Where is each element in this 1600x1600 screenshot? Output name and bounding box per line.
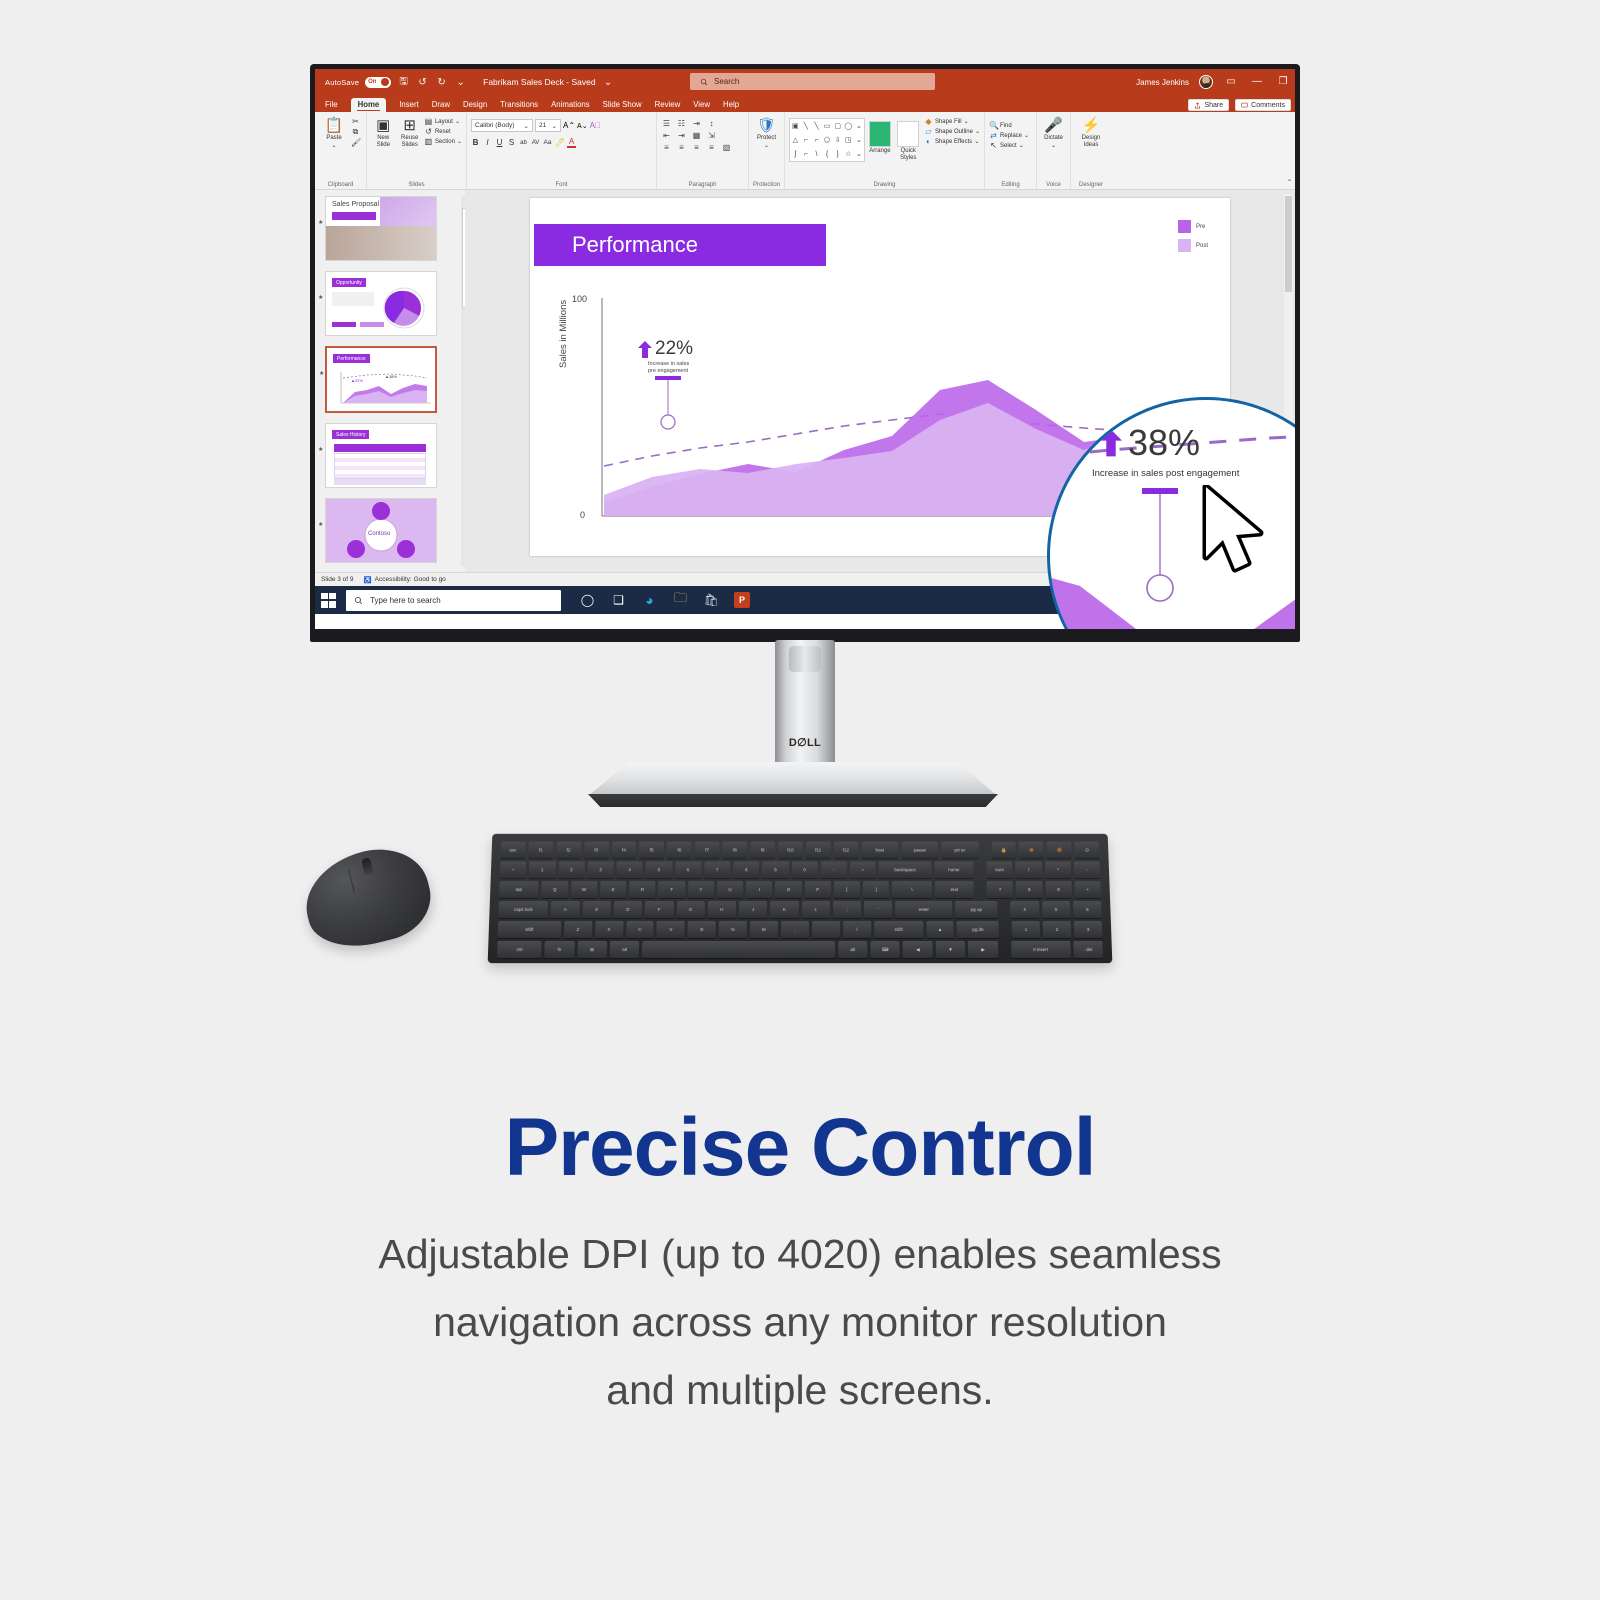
annotation-38-caption: Increase in sales post engagement [1092, 468, 1239, 479]
list-item[interactable]: ★ Contoso [325, 498, 437, 563]
key: 8 [1016, 881, 1043, 898]
font-row-bottom: B I U S ab AV Aa 🖊 A [471, 132, 652, 148]
key: ctrl [497, 941, 542, 958]
list-item[interactable]: ★ Opportunity [325, 271, 437, 336]
microphone-icon: 🎤 [1044, 117, 1063, 134]
key: - [821, 861, 847, 878]
key: fn [544, 941, 574, 958]
list-item[interactable]: ★ Sales History [325, 423, 437, 488]
key: 3 [587, 861, 614, 878]
new-slide-label: New Slide [371, 135, 395, 149]
shape-pentagon-icon: ⬠ [824, 136, 830, 144]
avatar[interactable] [1199, 75, 1213, 89]
shape-rounded-icon: ▢ [834, 122, 841, 130]
new-slide-icon: ▣ [376, 117, 390, 134]
document-title[interactable]: Fabrikam Sales Deck - Saved [483, 77, 595, 87]
key: f10 [778, 842, 803, 859]
key: L [802, 901, 830, 918]
shape-effects-button[interactable]: ◐Shape Effects⌄ [924, 137, 980, 146]
reset-label: Reset [435, 129, 451, 135]
tab-help[interactable]: Help [723, 100, 739, 112]
reuse-slides-button[interactable]: ⊞ Reuse Slides [397, 115, 421, 149]
reset-button[interactable]: ↺Reset [424, 127, 462, 136]
group-label-paragraph: Paragraph [657, 182, 748, 188]
arrange-button[interactable]: Arrange [867, 115, 892, 155]
paragraph-row-3: ≡ ≡ ≡ ≡ ▧ [661, 143, 744, 152]
key: 3 [1074, 921, 1103, 938]
key: 4 [1010, 901, 1039, 918]
shape-fill-label: Shape Fill [935, 119, 962, 125]
thumbnail-number-4: ★ [318, 446, 323, 453]
title-bar-right: James Jenkins ▭ — ❐ [1136, 69, 1291, 95]
key: M [750, 921, 778, 938]
convert-smartart-icon[interactable]: ▧ [721, 143, 732, 152]
key: enter [895, 901, 952, 918]
tab-slide-show[interactable]: Slide Show [603, 100, 642, 112]
layout-button[interactable]: ▤Layout⌄ [424, 117, 462, 126]
key: . [812, 921, 840, 938]
key: f7 [695, 842, 720, 859]
slide-thumbnail-pane[interactable]: ★ Sales Proposal ★ Opportunity [315, 190, 465, 572]
store-icon[interactable]: 🛍 [703, 592, 720, 609]
key: J [739, 901, 767, 918]
key: , [781, 921, 809, 938]
key: W [571, 881, 598, 898]
protect-button[interactable]: 🛡 Protect ⌄ [753, 115, 780, 149]
font-family-chevron-down-icon: ⌄ [524, 122, 529, 130]
tab-insert[interactable]: Insert [399, 100, 419, 112]
search-placeholder-text: Search [714, 77, 739, 86]
find-label: Find [1000, 123, 1012, 129]
shape-gallery-more-icon: ⌄ [856, 150, 862, 158]
key: Q [541, 881, 568, 898]
section-label: Section [435, 139, 455, 145]
key: / [1015, 861, 1042, 878]
text-direction-icon[interactable]: ⇲ [706, 131, 717, 140]
ribbon-actions: Share Comments [1188, 99, 1291, 111]
design-ideas-button[interactable]: ⚡ Design Ideas [1075, 115, 1107, 149]
shape-bend2-icon: ⌐ [814, 137, 818, 144]
key: backspace [879, 861, 932, 878]
cable-slot [789, 646, 821, 672]
select-button[interactable]: ↖Select⌄ [989, 141, 1032, 150]
slide-canvas-area: Performance 100 0 Sales in Millions [465, 190, 1295, 572]
tab-design[interactable]: Design [463, 100, 487, 112]
dell-mouse [305, 852, 430, 944]
key: 7 [704, 861, 730, 878]
layout-icon: ▤ [424, 117, 433, 126]
paste-icon: 📋 [325, 117, 344, 134]
key: caps lock [498, 901, 548, 918]
group-label-voice: Voice [1037, 182, 1070, 188]
tab-view[interactable]: View [693, 100, 710, 112]
font-family-select[interactable]: Calibri (Body) ⌄ [471, 119, 533, 132]
key: esc [500, 842, 525, 859]
key: 🔅 [1019, 842, 1044, 859]
tab-draw[interactable]: Draw [432, 100, 450, 112]
group-label-protection: Protection [749, 182, 784, 188]
group-label-drawing: Drawing [785, 182, 984, 188]
change-case-button[interactable]: Aa [543, 139, 552, 146]
quick-styles-button[interactable]: Quick Styles [895, 115, 922, 162]
quick-styles-label: Quick Styles [895, 148, 922, 162]
key: ◀ [903, 941, 933, 958]
scissors-icon: ✂ [351, 117, 360, 126]
numbering-icon[interactable]: ☷ [676, 119, 687, 128]
search-icon [354, 596, 363, 605]
paste-button[interactable]: 📋 Paste ⌄ [319, 115, 349, 149]
bold-button[interactable]: B [471, 138, 480, 147]
monitor-stand-neck: D∅LL [775, 640, 835, 770]
list-item[interactable]: ★ Performance ▲22% ▲38% [325, 346, 437, 413]
section-icon: ▥ [424, 137, 433, 146]
search-box[interactable]: Search [690, 73, 935, 90]
font-family-value: Calibri (Body) [475, 122, 514, 129]
keyboard-row-qwerty: tabQWERTYUIOP[]\end 789+ [499, 881, 1101, 898]
tab-review[interactable]: Review [655, 100, 681, 112]
save-icon[interactable]: 🖫 [397, 76, 410, 89]
key: pg up [955, 901, 998, 918]
key: . del [1073, 941, 1103, 958]
ribbon-group-paragraph: ☰ ☷ ⇥ ↕ ⇤ ⇥ ▦ ⇲ ≡ ≡ [657, 112, 749, 189]
key: 5 [646, 861, 672, 878]
legend-label-post: Post [1196, 243, 1208, 249]
align-center-icon[interactable]: ≡ [676, 143, 687, 152]
key: I [746, 881, 772, 898]
redo-icon[interactable]: ↻ [435, 76, 448, 89]
protect-label: Protect [757, 135, 776, 142]
tab-home[interactable]: Home [351, 98, 387, 112]
key: P [805, 881, 831, 898]
key: * [1045, 861, 1072, 878]
annotation-22-value: 22% [655, 338, 693, 360]
key: B [688, 921, 716, 938]
key: 🔒 [991, 842, 1016, 859]
find-button[interactable]: 🔍Find [989, 121, 1032, 130]
taskbar-search-input[interactable]: Type here to search [346, 590, 561, 611]
shape-outline-chevron-down-icon: ⌄ [975, 128, 980, 135]
thumbnail-preview-2: Opportunity [326, 272, 436, 335]
shield-icon: 🛡 [757, 117, 776, 134]
key: ; [833, 901, 861, 918]
layout-chevron-down-icon: ⌄ [455, 118, 460, 125]
lightbulb-icon: ⚡ [1082, 117, 1101, 134]
bullets-icon[interactable]: ☰ [661, 119, 672, 128]
stand-base-top [588, 762, 998, 796]
cortana-icon[interactable]: ◯ [579, 592, 596, 609]
line-spacing-icon[interactable]: ↕ [706, 119, 717, 128]
key: f1 [528, 842, 553, 859]
key: shift [874, 921, 923, 938]
ribbon-group-protection: 🛡 Protect ⌄ Protection [749, 112, 785, 189]
align-left-icon[interactable]: ≡ [661, 143, 672, 152]
thumbnail-number-3: ★ [319, 370, 324, 377]
shape-bend-icon: ⌐ [804, 137, 808, 144]
accessibility-text: Accessibility: Good to go [375, 576, 446, 583]
undo-icon[interactable]: ↺ [416, 76, 429, 89]
columns-icon[interactable]: ▦ [691, 131, 702, 140]
key: ▶ [968, 941, 998, 958]
key: V [657, 921, 685, 938]
ribbon-group-drawing: ▣╲╲ ▭▢◯⌄ △⌐⌐⬠⇩◳⌄ ʃ⌐\{}☆⌄ Arrange Quick S… [785, 112, 985, 189]
key: 7 [987, 881, 1014, 898]
clear-formatting-icon[interactable]: A⃠ [590, 121, 601, 130]
comments-button[interactable]: Comments [1235, 99, 1291, 111]
search-icon [700, 78, 708, 86]
legend-swatch-pre [1178, 220, 1191, 233]
thumbnail-preview-4: Sales History [326, 424, 436, 487]
user-name[interactable]: James Jenkins [1136, 78, 1189, 87]
thumbnail-number-5: ★ [318, 521, 323, 528]
quick-styles-icon [897, 121, 919, 147]
shadow-button[interactable]: S [507, 138, 516, 147]
key: 0 [792, 861, 818, 878]
slides-small-buttons: ▤Layout⌄ ↺Reset ▥Section⌄ [424, 115, 462, 146]
key: 0 insert [1011, 941, 1071, 958]
ribbon-group-font: Calibri (Body) ⌄ 21 ⌄ A⌃ A⌄ A⃠ [467, 112, 657, 189]
key: f3 [584, 842, 609, 859]
key: K [770, 901, 798, 918]
accessibility-status[interactable]: ♿ Accessibility: Good to go [364, 576, 446, 584]
decrease-indent-icon[interactable]: ⇤ [661, 131, 672, 140]
increase-font-size-icon[interactable]: A⌃ [563, 121, 575, 130]
annotation-22-leader-line [648, 376, 708, 434]
shape-rect-icon: ▭ [824, 122, 831, 130]
key: 1 [529, 861, 556, 878]
layout-label: Layout [435, 119, 453, 125]
key: 🔆 [1047, 842, 1072, 859]
scrollbar-thumb[interactable] [1285, 196, 1292, 292]
collapse-ribbon-icon[interactable]: ⌃ [1286, 178, 1293, 187]
monitor-screen: AutoSave On 🖫 ↺ ↻ ⌄ Fabrikam Sales Deck … [315, 69, 1295, 629]
minimize-button[interactable]: — [1249, 69, 1265, 95]
cut-button[interactable]: ✂ [351, 117, 360, 126]
keyboard-row-numbers: ~1234567890-=backspacehome num/*- [500, 861, 1101, 878]
thumbnail-preview-1: Sales Proposal [326, 197, 436, 260]
taskbar-pinned-apps: ◯ ❑ ◕ 🗀 🛍 P [579, 592, 750, 609]
design-ideas-label: Design Ideas [1075, 135, 1107, 149]
title-chevron-down-icon[interactable]: ⌄ [602, 76, 615, 89]
shape-outline-label: Shape Outline [935, 129, 973, 135]
align-right-icon[interactable]: ≡ [691, 143, 702, 152]
share-label: Share [1204, 102, 1223, 109]
shape-outline-button[interactable]: ▱Shape Outline⌄ [924, 127, 980, 136]
drawing-small-buttons: ◆Shape Fill⌄ ▱Shape Outline⌄ ◐Shape Effe… [924, 115, 980, 146]
ribbon-group-editing: 🔍Find ⇄Replace⌄ ↖Select⌄ Editing [985, 112, 1037, 189]
shape-fill-button[interactable]: ◆Shape Fill⌄ [924, 117, 980, 126]
replace-chevron-down-icon: ⌄ [1024, 132, 1029, 139]
key: num [986, 861, 1013, 878]
key: 6 [675, 861, 701, 878]
group-label-font: Font [467, 182, 656, 188]
new-slide-button[interactable]: ▣ New Slide [371, 115, 395, 149]
key: U [717, 881, 743, 898]
section-button[interactable]: ▥Section⌄ [424, 137, 462, 146]
character-spacing-button[interactable]: AV [531, 140, 540, 146]
mouse-cursor-icon [1202, 485, 1272, 580]
key: N [719, 921, 747, 938]
ribbon-group-designer: ⚡ Design Ideas Designer [1071, 112, 1111, 189]
caption-line-1: Adjustable DPI (up to 4020) enables seam… [0, 1220, 1600, 1288]
key: H [708, 901, 736, 918]
paste-chevron-down-icon[interactable]: ⌄ [331, 142, 336, 149]
underline-button[interactable]: U [495, 138, 504, 147]
annotation-38-value: 38% [1128, 422, 1200, 464]
legend-swatch-post [1178, 239, 1191, 252]
justify-icon[interactable]: ≡ [706, 143, 717, 152]
paragraph-row-1: ☰ ☷ ⇥ ↕ [661, 119, 744, 128]
key: 2 [558, 861, 585, 878]
shape-more-icon: ⌄ [856, 122, 862, 130]
key: end [934, 881, 974, 898]
spacebar-key [642, 941, 835, 958]
powerpoint-icon[interactable]: P [734, 592, 750, 608]
dell-monitor: AutoSave On 🖫 ↺ ↻ ⌄ Fabrikam Sales Deck … [310, 64, 1300, 642]
toggle-knob [381, 78, 389, 86]
magnifier-icon: 🔍 [989, 121, 998, 130]
shape-fill-chevron-down-icon: ⌄ [964, 118, 969, 125]
key: host [861, 842, 898, 859]
ribbon-group-voice: 🎤 Dictate ⌄ Voice [1037, 112, 1071, 189]
key: \ [892, 881, 932, 898]
key: ' [864, 901, 892, 918]
legend-item-post: Post [1178, 239, 1208, 252]
shape-outline-icon: ▱ [924, 127, 933, 136]
thumbnail-preview-3: Performance ▲22% ▲38% [327, 348, 435, 411]
dictate-label: Dictate [1044, 135, 1063, 142]
shape-effects-label: Shape Effects [935, 139, 972, 145]
edge-icon[interactable]: ◕ [641, 592, 658, 609]
key: alt [610, 941, 640, 958]
dell-keyboard: escf1f2f3f4f5f6f7f8f9f10f11f12hostpausep… [488, 834, 1113, 963]
tab-file[interactable]: File [325, 100, 338, 112]
select-label: Select [1000, 143, 1017, 149]
shape-freeform-icon: ⌐ [804, 151, 808, 158]
ribbon-group-slides: ▣ New Slide ⊞ Reuse Slides ▤Layout⌄ ↺Res… [367, 112, 467, 189]
key: ▼ [936, 941, 966, 958]
key: ▲ [926, 921, 954, 938]
arrange-label: Arrange [869, 148, 890, 155]
italic-button[interactable]: I [483, 138, 492, 147]
key: ] [863, 881, 889, 898]
tab-transitions[interactable]: Transitions [500, 100, 538, 112]
share-button[interactable]: Share [1188, 99, 1229, 111]
font-size-chevron-down-icon: ⌄ [552, 122, 557, 130]
key: f11 [806, 842, 831, 859]
annotation-22-caption-line2: pre engagement [648, 368, 758, 375]
keyboard-row-function: escf1f2f3f4f5f6f7f8f9f10f11f12hostpausep… [500, 842, 1099, 859]
key: Z [564, 921, 592, 938]
thumbnail-number-2: ★ [318, 294, 323, 301]
windows-start-icon[interactable] [321, 593, 336, 608]
replace-button[interactable]: ⇄Replace⌄ [989, 131, 1032, 140]
format-painter-button[interactable]: 🖌 [351, 138, 360, 147]
legend-item-pre: Pre [1178, 220, 1208, 233]
keyboard-row-home: caps lockASDFGHJKL;'enterpg up 456 [498, 901, 1101, 918]
workspace: ★ Sales Proposal ★ Opportunity [315, 190, 1295, 572]
key: f12 [833, 842, 858, 859]
key: tab [499, 881, 539, 898]
thumbnail-area-chart [327, 348, 435, 411]
shape-gallery[interactable]: ▣╲╲ ▭▢◯⌄ △⌐⌐⬠⇩◳⌄ ʃ⌐\{}☆⌄ [789, 118, 865, 162]
shape-line-icon: ╲ [804, 122, 808, 130]
font-size-value: 21 [539, 122, 546, 129]
shape-cube-icon: ◳ [845, 136, 852, 144]
key: prt sc [941, 842, 978, 859]
key: O [775, 881, 801, 898]
group-label-clipboard: Clipboard [315, 182, 366, 188]
indent-icon[interactable]: ⇥ [691, 119, 702, 128]
customize-qat-icon[interactable]: ⌄ [454, 76, 467, 89]
copy-icon: ⧉ [351, 127, 360, 137]
list-item[interactable]: ★ Sales Proposal [325, 196, 437, 261]
decrease-font-size-icon[interactable]: A⌄ [577, 122, 588, 130]
autosave-label: AutoSave [325, 78, 359, 87]
key: f2 [556, 842, 581, 859]
file-explorer-icon[interactable]: 🗀 [672, 592, 689, 609]
chart-legend: Pre Post [1178, 220, 1208, 258]
key: E [600, 881, 627, 898]
key: 2 [1043, 921, 1072, 938]
comment-icon [1241, 102, 1248, 109]
select-chevron-down-icon: ⌄ [1019, 142, 1024, 149]
restore-button[interactable]: ❐ [1275, 69, 1291, 95]
dictate-button[interactable]: 🎤 Dictate ⌄ [1041, 115, 1066, 149]
comments-label: Comments [1251, 102, 1285, 109]
tab-animations[interactable]: Animations [551, 100, 590, 112]
mouse-body [296, 838, 440, 958]
increase-indent-icon[interactable]: ⇥ [676, 131, 687, 140]
key: 9 [762, 861, 788, 878]
powerpoint-badge: P [739, 595, 745, 605]
key: D [614, 901, 643, 918]
shape-textbox-icon: ▣ [792, 122, 799, 130]
key: X [595, 921, 623, 938]
autosave-toggle[interactable]: On [365, 77, 391, 88]
copy-button[interactable]: ⧉ [351, 127, 360, 137]
shape-effects-chevron-down-icon: ⌄ [974, 138, 979, 145]
taskbar-search-placeholder: Type here to search [370, 596, 441, 605]
ribbon-display-options-icon[interactable]: ▭ [1223, 69, 1239, 95]
accessibility-icon: ♿ [364, 576, 372, 584]
key: + [1074, 881, 1101, 898]
shape-scroll-icon: ⌄ [856, 136, 862, 144]
strikethrough-button[interactable]: ab [519, 140, 528, 146]
key: T [658, 881, 684, 898]
select-icon: ↖ [989, 141, 998, 150]
font-color-icon[interactable]: A [567, 137, 576, 148]
shape-arrow-icon: ╲ [814, 122, 818, 130]
dell-logo: D∅LL [775, 736, 835, 749]
key: - [1074, 861, 1101, 878]
shape-brace-icon: { [826, 151, 828, 158]
key: f8 [722, 842, 747, 859]
font-row-top: Calibri (Body) ⌄ 21 ⌄ A⌃ A⌄ A⃠ [471, 115, 652, 132]
shape-scribble-icon: \ [816, 151, 818, 158]
up-arrow-icon [638, 341, 652, 358]
font-size-select[interactable]: 21 ⌄ [535, 119, 561, 132]
key: S [582, 901, 611, 918]
key: 4 [616, 861, 642, 878]
shape-brace2-icon: } [837, 151, 839, 158]
task-view-icon[interactable]: ❑ [610, 592, 627, 609]
protect-chevron-down-icon[interactable]: ⌄ [764, 142, 769, 149]
text-highlight-icon[interactable]: 🖊 [555, 138, 564, 147]
caption-line-2: navigation across any monitor resolution [0, 1288, 1600, 1356]
thumbnail-preview-5: Contoso [326, 499, 436, 562]
dictate-chevron-down-icon[interactable]: ⌄ [1051, 142, 1056, 149]
shape-triangle-icon: △ [793, 136, 798, 144]
